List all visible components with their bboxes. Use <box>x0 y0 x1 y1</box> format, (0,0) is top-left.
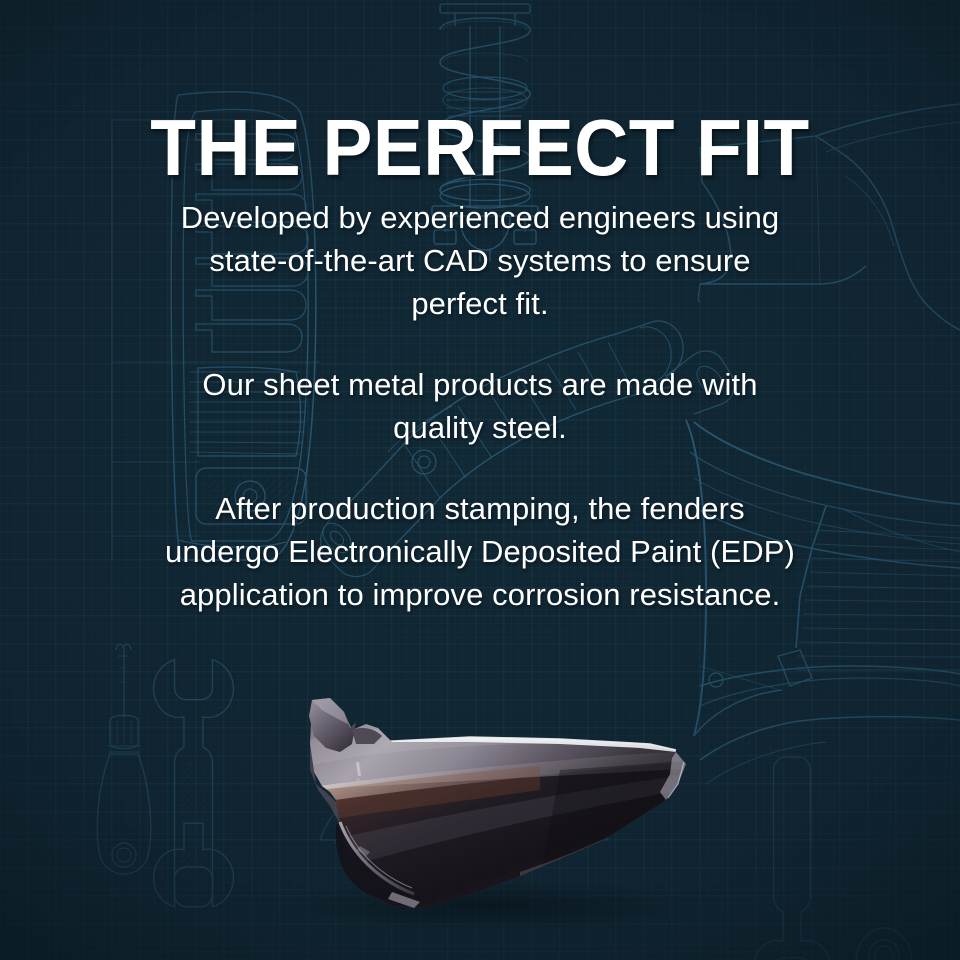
body-copy-block: Developed by experienced engineers using… <box>160 196 800 616</box>
paragraph-2: Our sheet metal products are made with q… <box>160 363 800 449</box>
text-content-layer: THE PERFECT FIT Developed by experienced… <box>0 0 960 960</box>
poster-canvas: THE PERFECT FIT Developed by experienced… <box>0 0 960 960</box>
paragraph-3: After production stamping, the fenders u… <box>160 487 800 616</box>
page-title: THE PERFECT FIT <box>31 106 929 190</box>
paragraph-1: Developed by experienced engineers using… <box>160 196 800 325</box>
